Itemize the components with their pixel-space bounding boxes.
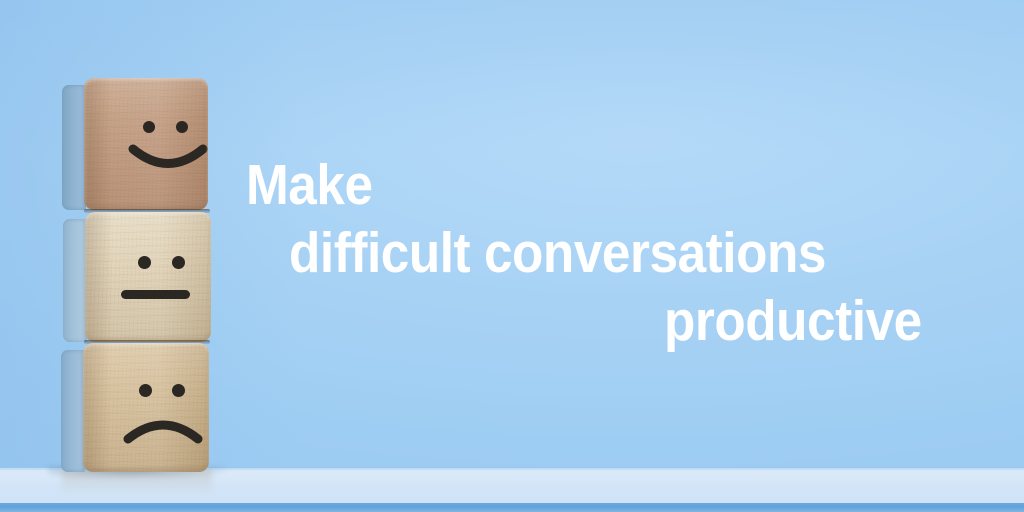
block-side-face-sad <box>61 350 85 472</box>
headline-line-1: Make <box>246 157 373 214</box>
neutral-face-wooden-block <box>63 212 211 343</box>
block-bevel-happy <box>84 78 208 210</box>
block-bevel-sad <box>83 343 209 472</box>
happy-face-wooden-block <box>62 78 208 211</box>
headline-line-3: productive <box>664 293 922 350</box>
block-front-face-happy <box>84 78 208 210</box>
sad-face-wooden-block <box>61 343 209 473</box>
block-side-face-neutral <box>63 219 87 342</box>
block-front-face-neutral <box>85 212 211 342</box>
headline-line-2: difficult conversations <box>289 225 826 282</box>
block-side-face-happy <box>62 85 86 210</box>
banner-image: Make difficult conversations productive <box>0 0 1024 512</box>
block-bevel-neutral <box>85 212 211 342</box>
block-front-face-sad <box>83 343 209 472</box>
